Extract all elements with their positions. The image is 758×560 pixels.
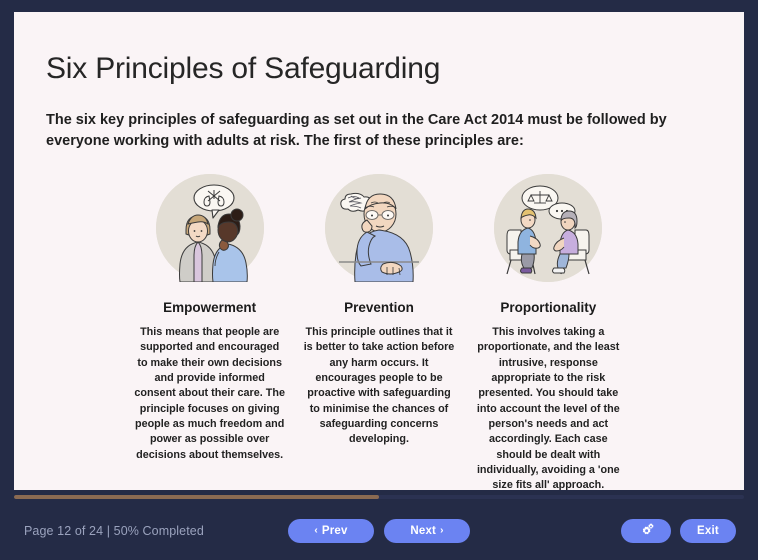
navigation-controls: ‹ Prev Next › — [288, 519, 470, 543]
chevron-right-icon: › — [440, 526, 444, 536]
slide-intro-text: The six key principles of safeguarding a… — [46, 110, 696, 152]
principle-card-prevention: Prevention This principle outlines that … — [303, 174, 454, 490]
cogs-icon — [639, 523, 654, 540]
principle-card-proportionality: Proportionality This involves taking a p… — [473, 174, 624, 490]
next-button-label: Next — [410, 525, 436, 537]
principle-title: Proportionality — [500, 300, 596, 315]
principle-card-empowerment: Empowerment This means that people are s… — [134, 174, 285, 490]
exit-button-label: Exit — [697, 525, 719, 537]
page-status-text: Page 12 of 24 | 50% Completed — [24, 524, 204, 538]
prev-button[interactable]: ‹ Prev — [288, 519, 374, 543]
footer-actions: Exit — [621, 519, 736, 543]
slide-card: Six Principles of Safeguarding The six k… — [14, 12, 744, 490]
exit-button[interactable]: Exit — [680, 519, 736, 543]
footer-bar: Page 12 of 24 | 50% Completed ‹ Prev Nex… — [0, 502, 758, 560]
next-button[interactable]: Next › — [384, 519, 470, 543]
principle-title: Prevention — [344, 300, 414, 315]
principles-list: Empowerment This means that people are s… — [44, 174, 714, 490]
chevron-left-icon: ‹ — [314, 526, 318, 536]
settings-button[interactable] — [621, 519, 671, 543]
worried-older-man-illustration — [325, 174, 433, 282]
principle-body: This involves taking a proportionate, an… — [473, 325, 624, 490]
course-progress-bar — [14, 495, 744, 499]
two-people-seated-meeting-illustration — [494, 174, 602, 282]
two-people-conversation-illustration — [156, 174, 264, 282]
principle-body: This means that people are supported and… — [134, 325, 285, 463]
page-title: Six Principles of Safeguarding — [46, 52, 714, 86]
principle-title: Empowerment — [163, 300, 256, 315]
prev-button-label: Prev — [322, 525, 348, 537]
principle-body: This principle outlines that it is bette… — [303, 325, 454, 448]
course-progress-fill — [14, 495, 379, 499]
